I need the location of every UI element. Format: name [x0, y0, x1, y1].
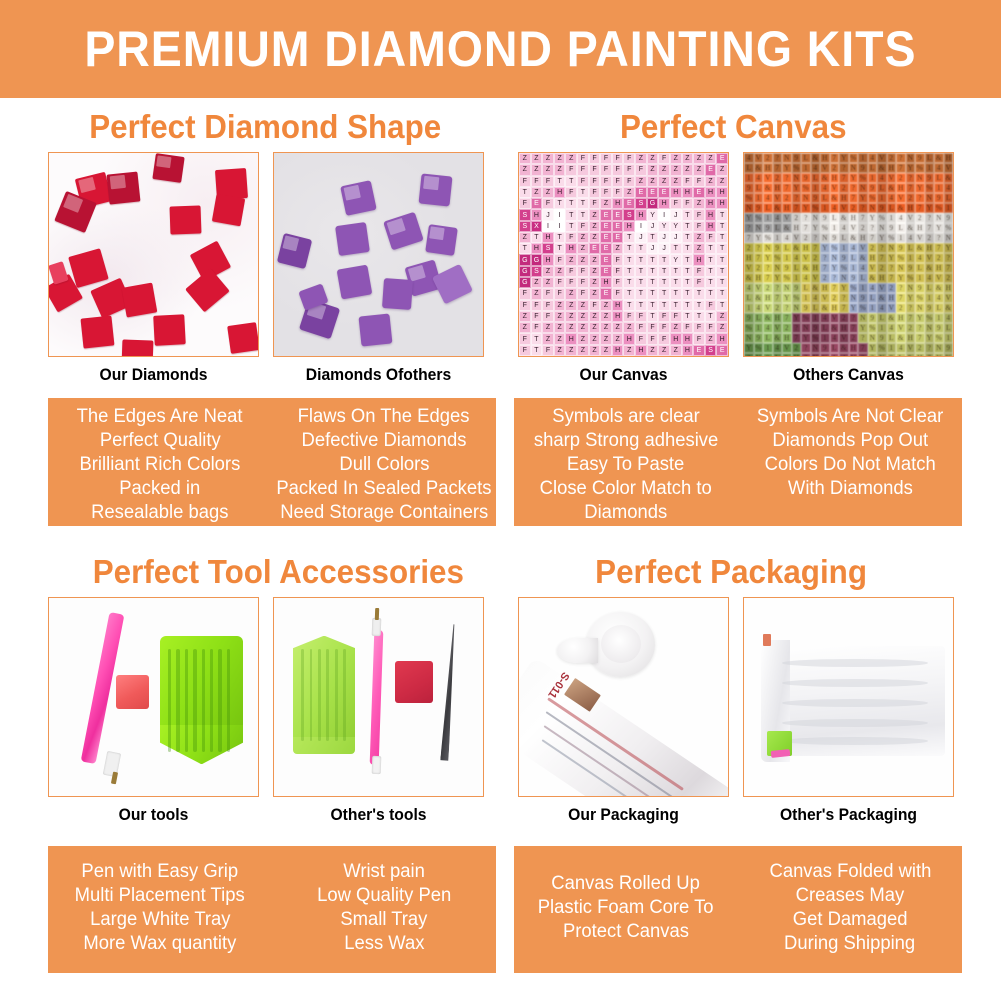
- panel-line: Resealable bags: [91, 501, 228, 525]
- canvas-cell: ?: [773, 153, 783, 163]
- canvas-cell: 7: [906, 313, 916, 323]
- canvas-cell: H: [944, 283, 954, 293]
- canvas-cell: &: [944, 303, 954, 313]
- caption-other-packaging: Other's Packaging: [748, 806, 948, 825]
- tray-rib: [301, 649, 304, 740]
- canvas-cell: Y: [744, 213, 754, 223]
- panel-line: During Shipping: [784, 932, 915, 956]
- caption-our-tools: Our tools: [53, 806, 253, 825]
- canvas-cell: T: [682, 209, 694, 220]
- canvas-cell: H: [635, 345, 647, 356]
- canvas-cell: 1: [801, 293, 811, 303]
- canvas-cell: E: [600, 221, 612, 232]
- canvas-cell: Z: [693, 164, 705, 175]
- canvas-cell: F: [531, 300, 543, 311]
- canvas-cell: &: [858, 253, 868, 263]
- canvas-cell: 4: [811, 293, 821, 303]
- canvas-cell: 4: [934, 293, 944, 303]
- canvas-cell: &: [744, 273, 754, 283]
- caption-our-diamonds: Our Diamonds: [53, 366, 253, 385]
- canvas-cell: %: [925, 183, 935, 193]
- canvas-cell: N: [754, 353, 764, 356]
- canvas-cell: Z: [542, 164, 554, 175]
- canvas-cell: T: [554, 232, 566, 243]
- canvas-cell: F: [531, 322, 543, 333]
- canvas-cell: L: [744, 293, 754, 303]
- canvas-cell: H: [623, 333, 635, 344]
- canvas-cell: %: [868, 193, 878, 203]
- canvas-cell: %: [792, 163, 802, 173]
- canvas-cell: &: [830, 193, 840, 203]
- canvas-cell: T: [716, 254, 728, 265]
- canvas-cell: 7: [925, 223, 935, 233]
- canvas-cell: 2: [858, 223, 868, 233]
- canvas-cell: ?: [820, 253, 830, 263]
- canvas-cell: 2: [868, 243, 878, 253]
- canvas-cell: 4: [906, 233, 916, 243]
- canvas-cell: N: [811, 213, 821, 223]
- canvas-cell: F: [589, 153, 601, 164]
- canvas-cell: Z: [612, 243, 624, 254]
- canvas-cell: Z: [670, 345, 682, 356]
- canvas-cell: L: [868, 293, 878, 303]
- canvas-cell: 4: [877, 173, 887, 183]
- canvas-cell: G: [519, 277, 531, 288]
- canvas-cell: H: [839, 323, 849, 333]
- canvas-cell: G: [519, 254, 531, 265]
- canvas-cell: L: [830, 343, 840, 353]
- canvas-cell: T: [670, 277, 682, 288]
- canvas-cell: N: [763, 243, 773, 253]
- canvas-cell: 2: [801, 233, 811, 243]
- canvas-cell: 7: [849, 193, 859, 203]
- canvas-cell: H: [531, 209, 543, 220]
- canvas-cell: ?: [906, 303, 916, 313]
- canvas-cell: H: [887, 163, 897, 173]
- canvas-cell: H: [682, 333, 694, 344]
- canvas-cell: ?: [744, 223, 754, 233]
- tray-rib: [176, 649, 179, 752]
- bubble-texture: [782, 737, 928, 745]
- canvas-cell: F: [612, 164, 624, 175]
- canvas-cell: H: [925, 243, 935, 253]
- canvas-cell: F: [658, 153, 670, 164]
- canvas-cell: E: [600, 232, 612, 243]
- canvas-cell: %: [877, 343, 887, 353]
- canvas-cell: 1: [868, 173, 878, 183]
- canvas-cell: F: [565, 164, 577, 175]
- canvas-cell: Y: [839, 153, 849, 163]
- canvas-cell: 9: [896, 243, 906, 253]
- canvas-cell: 4: [896, 213, 906, 223]
- pen-nib: [375, 608, 380, 620]
- canvas-cell: N: [773, 263, 783, 273]
- canvas-cell: &: [763, 183, 773, 193]
- canvas-cell: Z: [716, 176, 728, 187]
- canvas-cell: 2: [839, 313, 849, 323]
- canvas-cell: T: [623, 243, 635, 254]
- canvas-cell: Y: [811, 353, 821, 356]
- canvas-cell: 1: [839, 243, 849, 253]
- canvas-cell: Z: [577, 300, 589, 311]
- canvas-cell: Y: [754, 233, 764, 243]
- drill: [419, 174, 453, 208]
- canvas-cell: L: [925, 153, 935, 163]
- canvas-cell: J: [670, 209, 682, 220]
- canvas-cell: ?: [839, 293, 849, 303]
- canvas-cell: 7: [906, 183, 916, 193]
- canvas-cell: T: [623, 232, 635, 243]
- canvas-cell: F: [600, 164, 612, 175]
- canvas-cell: F: [693, 322, 705, 333]
- canvas-cell: 7: [896, 293, 906, 303]
- canvas-cell: Z: [589, 311, 601, 322]
- canvas-cell: %: [792, 293, 802, 303]
- canvas-cell: N: [934, 343, 944, 353]
- canvas-cell: 4: [868, 283, 878, 293]
- canvas-cell: 1: [896, 233, 906, 243]
- tray-rib: [168, 649, 171, 752]
- canvas-cell: F: [693, 221, 705, 232]
- canvas-cell: Z: [519, 311, 531, 322]
- green-tray-pen-wax-tweezers-photo: [274, 598, 483, 796]
- canvas-cell: F: [600, 176, 612, 187]
- canvas-cell: 1: [763, 213, 773, 223]
- panel-line: Wrist pain: [343, 860, 425, 884]
- canvas-cell: F: [693, 333, 705, 344]
- canvas-cell: Z: [589, 232, 601, 243]
- canvas-cell: 1: [763, 343, 773, 353]
- canvas-cell: 7: [915, 203, 925, 213]
- canvas-cell: Z: [542, 153, 554, 164]
- panel-line: Symbols Are Not Clear: [757, 405, 943, 429]
- drill: [81, 316, 115, 350]
- canvas-cell: H: [830, 173, 840, 183]
- canvas-cell: 4: [915, 253, 925, 263]
- canvas-cell: ?: [801, 213, 811, 223]
- canvas-cell: J: [542, 209, 554, 220]
- canvas-cell: 1: [792, 273, 802, 283]
- canvas-cell: &: [934, 283, 944, 293]
- canvas-cell: Z: [577, 243, 589, 254]
- panel-line: Get Damaged: [793, 908, 908, 932]
- canvas-cell: 1: [849, 263, 859, 273]
- panel-packaging: Canvas Rolled Up Plastic Foam Core To Pr…: [514, 846, 962, 973]
- blurry-color-canvas-photo: 4V2?N9L&H7Y%14V2?N9L&HL&H7Y%14V2?N9L&H7Y…: [744, 153, 953, 356]
- canvas-cell: H: [682, 345, 694, 356]
- canvas-cell: V: [782, 213, 792, 223]
- canvas-cell: 2: [887, 283, 897, 293]
- panel-line: sharp Strong adhesive: [534, 429, 718, 453]
- canvas-cell: 7: [830, 153, 840, 163]
- canvas-cell: 2: [944, 273, 954, 283]
- canvas-cell: 7: [858, 343, 868, 353]
- canvas-cell: &: [763, 313, 773, 323]
- canvas-cell: 7: [820, 263, 830, 273]
- bubble-texture: [782, 699, 928, 707]
- canvas-cell: 2: [896, 303, 906, 313]
- canvas-cell: Z: [716, 322, 728, 333]
- canvas-cell: V: [830, 313, 840, 323]
- canvas-cell: Y: [906, 293, 916, 303]
- caption-other-diamonds: Diamonds Ofothers: [278, 366, 478, 385]
- canvas-cell: I: [635, 221, 647, 232]
- canvas-cell: %: [944, 353, 954, 356]
- canvas-cell: Z: [531, 164, 543, 175]
- canvas-cell: F: [519, 333, 531, 344]
- canvas-cell: 1: [877, 193, 887, 203]
- canvas-cell: H: [887, 293, 897, 303]
- canvas-cell: L: [858, 273, 868, 283]
- canvas-cell: 7: [801, 223, 811, 233]
- canvas-cell: V: [811, 273, 821, 283]
- canvas-cell: ?: [915, 323, 925, 333]
- canvas-cell: H: [705, 221, 717, 232]
- canvas-cell: 9: [868, 313, 878, 323]
- canvas-cell: %: [944, 223, 954, 233]
- canvas-cell: H: [849, 343, 859, 353]
- canvas-cell: N: [754, 223, 764, 233]
- canvas-cell: T: [705, 277, 717, 288]
- canvas-cell: H: [705, 209, 717, 220]
- canvas-cell: V: [754, 153, 764, 163]
- canvas-cell: N: [896, 263, 906, 273]
- canvas-cell: N: [782, 153, 792, 163]
- canvas-cell: L: [754, 313, 764, 323]
- canvas-cell: T: [623, 277, 635, 288]
- canvas-cell: E: [658, 187, 670, 198]
- canvas-cell: N: [925, 323, 935, 333]
- canvas-cell: F: [589, 187, 601, 198]
- canvas-cell: 4: [763, 323, 773, 333]
- canvas-cell: ?: [849, 183, 859, 193]
- canvas-cell: F: [670, 311, 682, 322]
- canvas-cell: 9: [773, 243, 783, 253]
- canvas-cell: 1: [820, 203, 830, 213]
- canvas-cell: T: [647, 311, 659, 322]
- canvas-cell: V: [915, 233, 925, 243]
- canvas-cell: H: [944, 153, 954, 163]
- panel-line: Symbols are clear: [552, 405, 700, 429]
- canvas-cell: %: [934, 203, 944, 213]
- canvas-cell: S: [531, 266, 543, 277]
- canvas-cell: N: [887, 243, 897, 253]
- canvas-cell: Z: [554, 311, 566, 322]
- panel-tools: Pen with Easy Grip Multi Placement Tips …: [48, 846, 496, 973]
- canvas-cell: %: [906, 273, 916, 283]
- canvas-cell: 4: [754, 173, 764, 183]
- section-heading-canvas: Perfect Canvas: [620, 108, 847, 146]
- canvas-cell: 9: [792, 283, 802, 293]
- canvas-cell: &: [925, 263, 935, 273]
- canvas-cell: ?: [915, 193, 925, 203]
- canvas-cell: H: [896, 183, 906, 193]
- canvas-cell: %: [887, 233, 897, 243]
- canvas-cell: N: [801, 323, 811, 333]
- canvas-cell: 7: [849, 323, 859, 333]
- canvas-cell: T: [716, 221, 728, 232]
- canvas-cell: V: [744, 263, 754, 273]
- canvas-cell: T: [635, 277, 647, 288]
- canvas-cell: 1: [744, 173, 754, 183]
- canvas-cell: T: [658, 254, 670, 265]
- canvas-cell: T: [716, 288, 728, 299]
- canvas-cell: %: [744, 323, 754, 333]
- canvas-cell: Z: [589, 221, 601, 232]
- canvas-cell: F: [554, 254, 566, 265]
- canvas-cell: 9: [811, 193, 821, 203]
- canvas-cell: V: [839, 333, 849, 343]
- canvas-cell: V: [944, 163, 954, 173]
- panel-line: Perfect Quality: [100, 429, 221, 453]
- canvas-cell: E: [589, 243, 601, 254]
- section-heading-tools: Perfect Tool Accessories: [93, 553, 464, 591]
- canvas-cell: %: [801, 183, 811, 193]
- image-other-diamonds: [273, 152, 484, 357]
- page-header-band: PREMIUM DIAMOND PAINTING KITS: [0, 0, 1001, 98]
- canvas-cell: F: [565, 277, 577, 288]
- canvas-cell: F: [600, 153, 612, 164]
- canvas-cell: 4: [763, 193, 773, 203]
- pink-symbol-canvas-photo: ZZZZZFFFFFZZFZZZZEZZZZFFFFFFFZZZZZEZFFFT…: [519, 153, 728, 356]
- canvas-cell: L: [830, 213, 840, 223]
- canvas-cell: F: [577, 266, 589, 277]
- canvas-cell: 7: [887, 273, 897, 283]
- canvas-cell: ?: [754, 243, 764, 253]
- canvas-cell: H: [565, 243, 577, 254]
- canvas-cell: H: [868, 253, 878, 263]
- canvas-cell: G: [531, 254, 543, 265]
- canvas-cell: &: [906, 223, 916, 233]
- canvas-cell: ?: [782, 173, 792, 183]
- canvas-cell: ?: [887, 263, 897, 273]
- canvas-cell: N: [820, 233, 830, 243]
- red-square-drills-photo: [49, 153, 258, 356]
- canvas-cell: 4: [773, 213, 783, 223]
- canvas-cell: %: [839, 263, 849, 273]
- canvas-cell: I: [542, 221, 554, 232]
- canvas-cell: 1: [868, 303, 878, 313]
- canvas-cell: 1: [773, 233, 783, 243]
- canvas-cell: %: [915, 293, 925, 303]
- canvas-symbol-grid: ZZZZZFFFFFZZFZZZZEZZZZFFFFFFFZZZZZEZFFFT…: [519, 153, 728, 356]
- canvas-cell: Z: [716, 164, 728, 175]
- canvas-cell: 2: [839, 183, 849, 193]
- canvas-cell: Z: [693, 198, 705, 209]
- canvas-cell: 1: [944, 333, 954, 343]
- canvas-cell: 7: [830, 283, 840, 293]
- canvas-cell: T: [682, 232, 694, 243]
- canvas-cell: Z: [554, 300, 566, 311]
- panel-line: Colors Do Not Match: [764, 453, 935, 477]
- canvas-cell: &: [877, 293, 887, 303]
- canvas-cell: Z: [519, 232, 531, 243]
- canvas-cell: 7: [858, 213, 868, 223]
- image-our-diamonds: [48, 152, 259, 357]
- canvas-cell: &: [820, 303, 830, 313]
- canvas-cell: J: [647, 221, 659, 232]
- canvas-cell: &: [896, 203, 906, 213]
- drill: [425, 224, 458, 256]
- canvas-cell: T: [623, 266, 635, 277]
- canvas-cell: F: [623, 153, 635, 164]
- canvas-cell: 2: [792, 343, 802, 353]
- canvas-cell: T: [658, 277, 670, 288]
- canvas-cell: H: [763, 293, 773, 303]
- canvas-cell: 1: [906, 253, 916, 263]
- canvas-cell: 2: [782, 323, 792, 333]
- panel-line: Plastic Foam Core To: [538, 896, 714, 920]
- canvas-cell: 9: [915, 283, 925, 293]
- canvas-cell: Z: [554, 345, 566, 356]
- canvas-cell: N: [849, 293, 859, 303]
- canvas-cell: H: [839, 193, 849, 203]
- canvas-cell: F: [647, 333, 659, 344]
- canvas-cell: %: [744, 193, 754, 203]
- canvas-cell: T: [647, 277, 659, 288]
- canvas-cell: L: [754, 183, 764, 193]
- canvas-cell: Y: [811, 223, 821, 233]
- canvas-cell: S: [542, 243, 554, 254]
- canvas-cell: H: [849, 213, 859, 223]
- canvas-cell: T: [670, 300, 682, 311]
- canvas-cell: %: [773, 253, 783, 263]
- canvas-cell: H: [635, 209, 647, 220]
- canvas-cell: L: [773, 353, 783, 356]
- canvas-cell: T: [647, 288, 659, 299]
- drill: [122, 339, 154, 356]
- canvas-cell: V: [944, 293, 954, 303]
- canvas-cell: F: [623, 164, 635, 175]
- canvas-cell: F: [565, 266, 577, 277]
- canvas-cell: &: [877, 163, 887, 173]
- canvas-cell: T: [565, 221, 577, 232]
- canvas-cell: H: [716, 333, 728, 344]
- canvas-cell: E: [600, 243, 612, 254]
- canvas-cell: ?: [744, 353, 754, 356]
- canvas-cell: %: [820, 223, 830, 233]
- canvas-cell: N: [906, 153, 916, 163]
- canvas-cell: F: [531, 311, 543, 322]
- canvas-cell: V: [782, 343, 792, 353]
- canvas-cell: 4: [944, 313, 954, 323]
- canvas-cell: V: [773, 193, 783, 203]
- canvas-cell: 9: [744, 313, 754, 323]
- canvas-cell: Z: [589, 209, 601, 220]
- canvas-cell: &: [896, 333, 906, 343]
- canvas-cell: F: [554, 277, 566, 288]
- canvas-cell: ?: [830, 273, 840, 283]
- panel-line: Flaws On The Edges: [298, 405, 470, 429]
- canvas-cell: V: [906, 343, 916, 353]
- canvas-cell: V: [849, 353, 859, 356]
- canvas-cell: N: [849, 163, 859, 173]
- canvas-cell: Z: [647, 164, 659, 175]
- canvas-cell: 2: [925, 233, 935, 243]
- canvas-cell: %: [763, 233, 773, 243]
- drill: [122, 282, 158, 317]
- canvas-cell: L: [887, 333, 897, 343]
- canvas-cell: E: [600, 209, 612, 220]
- canvas-cell: ?: [839, 163, 849, 173]
- canvas-cell: F: [670, 198, 682, 209]
- canvas-cell: T: [682, 311, 694, 322]
- canvas-cell: F: [705, 232, 717, 243]
- canvas-cell: H: [623, 221, 635, 232]
- image-our-tools: [48, 597, 259, 797]
- canvas-cell: E: [716, 345, 728, 356]
- canvas-cell: Z: [705, 333, 717, 344]
